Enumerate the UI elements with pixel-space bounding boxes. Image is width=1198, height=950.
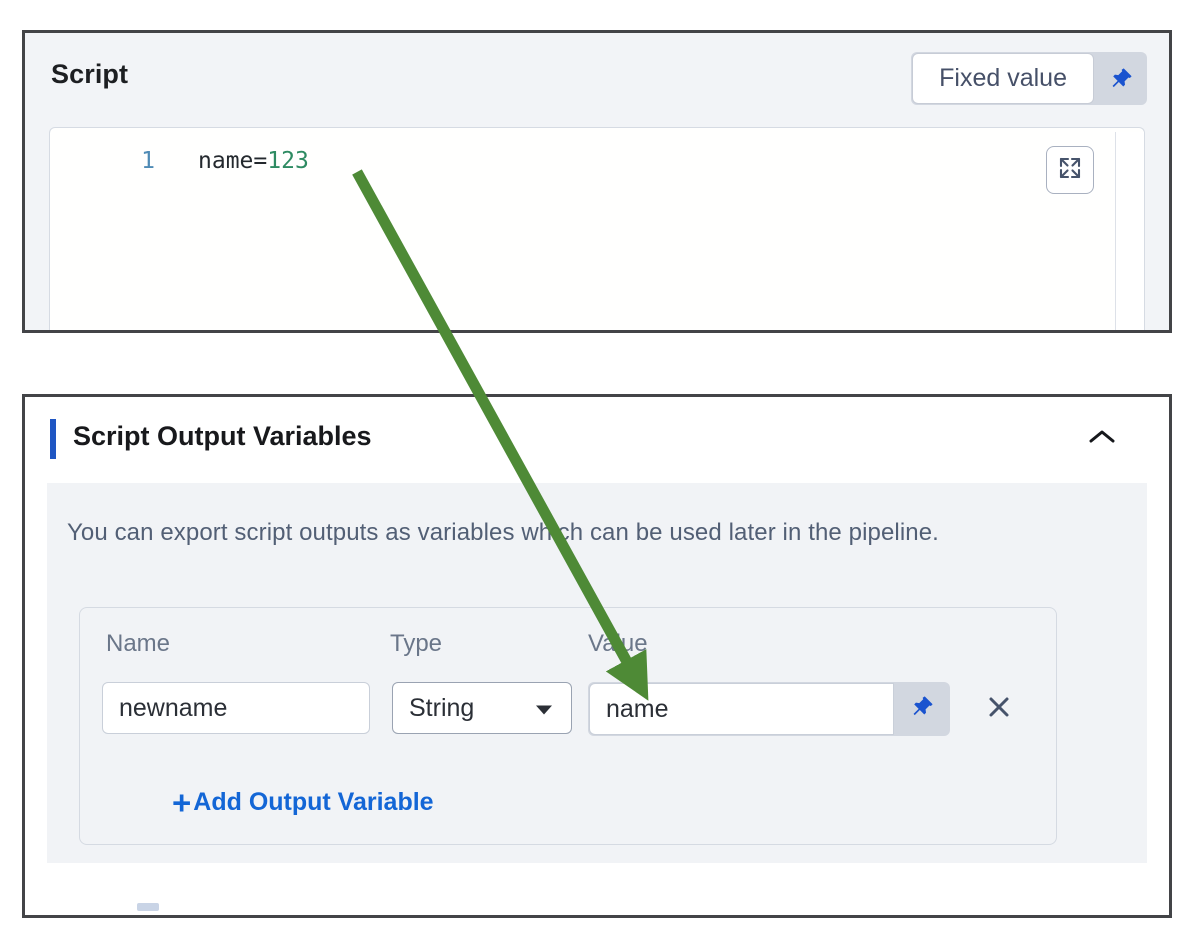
- pin-icon: [909, 694, 935, 725]
- fixed-value-control-group: Fixed value: [911, 52, 1147, 105]
- code-token-assignment: name=123: [50, 148, 309, 174]
- column-header-type: Type: [390, 630, 442, 658]
- script-code-editor[interactable]: 1 name=123: [49, 127, 1145, 330]
- add-output-variable-button[interactable]: + Add Output Variable: [172, 786, 434, 819]
- column-header-name: Name: [106, 630, 170, 658]
- fixed-value-button[interactable]: Fixed value: [912, 53, 1094, 104]
- script-output-variables-panel: Script Output Variables You can export s…: [22, 394, 1172, 918]
- script-panel-header: Script Fixed value: [25, 33, 1169, 119]
- variable-type-value: String: [409, 694, 474, 723]
- script-output-variables-title: Script Output Variables: [73, 421, 372, 452]
- remove-variable-button[interactable]: [980, 690, 1018, 728]
- collapse-section-button[interactable]: [1087, 427, 1117, 452]
- variable-value-pin-button[interactable]: [894, 682, 950, 736]
- script-output-variables-body: You can export script outputs as variabl…: [47, 483, 1147, 863]
- output-variables-description: You can export script outputs as variabl…: [67, 519, 939, 547]
- chevron-up-icon: [1087, 434, 1117, 451]
- variable-type-select[interactable]: String: [392, 682, 572, 734]
- add-output-variable-label: Add Output Variable: [193, 788, 433, 817]
- code-line-1-text: name=123: [50, 144, 309, 178]
- output-variables-table: Name Type Value newname String name: [79, 607, 1057, 845]
- partially-visible-element: [137, 903, 159, 911]
- chevron-down-icon: [535, 694, 553, 723]
- close-x-icon: [985, 693, 1013, 726]
- expand-fullscreen-icon: [1058, 156, 1082, 185]
- plus-icon: +: [172, 786, 191, 819]
- code-token-number: 123: [267, 148, 309, 174]
- variable-value-input[interactable]: name: [589, 683, 894, 735]
- variable-name-input[interactable]: newname: [102, 682, 370, 734]
- script-pin-button[interactable]: [1095, 52, 1147, 105]
- variable-value-control-group: name: [588, 682, 950, 736]
- script-panel: Script Fixed value 1 name=123: [22, 30, 1172, 333]
- script-panel-title: Script: [51, 59, 128, 90]
- code-token-name: name=: [198, 148, 267, 174]
- expand-editor-button[interactable]: [1046, 146, 1094, 194]
- column-header-value: Value: [588, 630, 648, 658]
- section-accent-bar: [50, 419, 56, 459]
- script-output-variables-header: Script Output Variables: [25, 397, 1169, 481]
- pin-icon: [1108, 66, 1134, 92]
- editor-scrollbar[interactable]: [1115, 132, 1144, 330]
